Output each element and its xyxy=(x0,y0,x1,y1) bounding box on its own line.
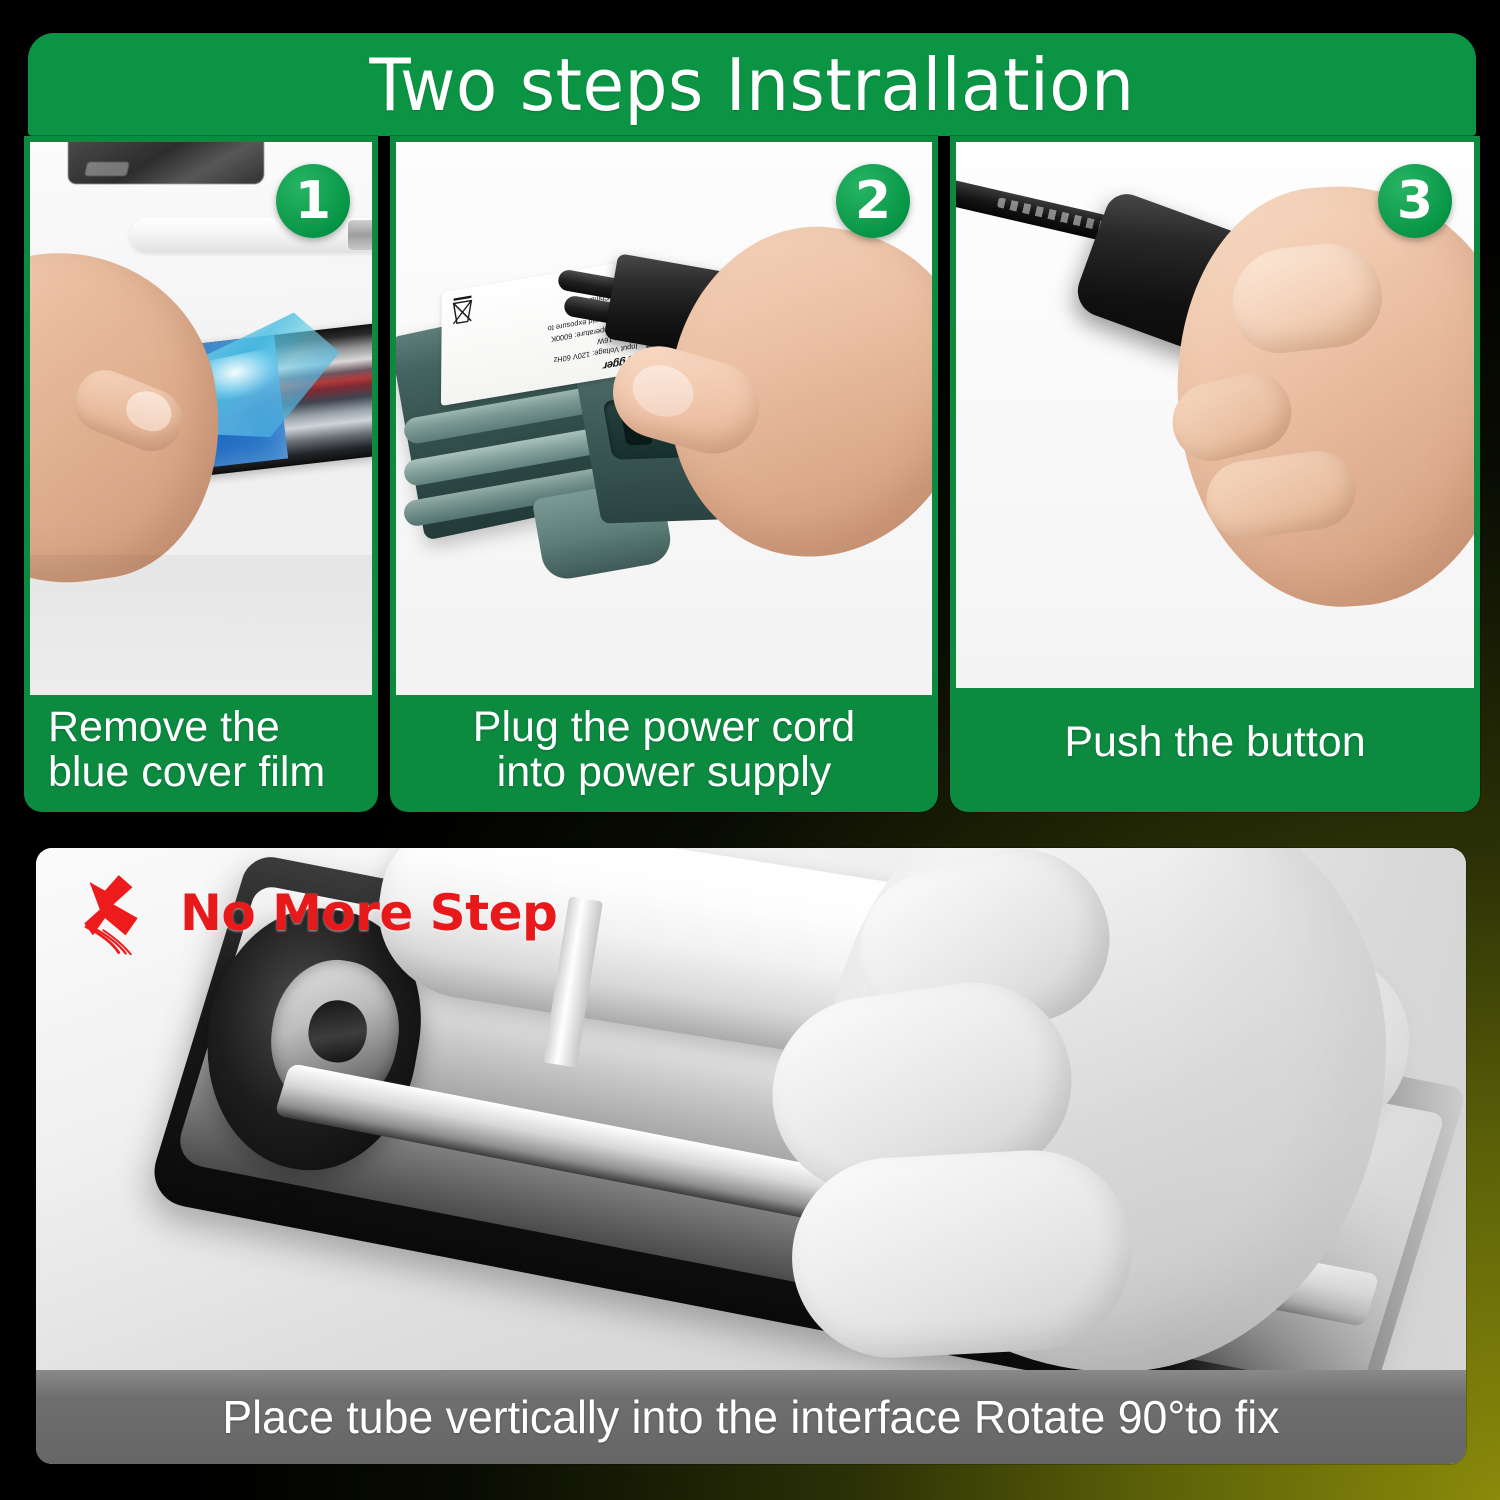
plastic-bag xyxy=(68,142,264,184)
step-number-1: 1 xyxy=(295,175,331,227)
step-3-caption-line-1: Push the button xyxy=(1064,720,1365,766)
tube-end-cap xyxy=(348,220,372,250)
step-2-caption-line-2: into power supply xyxy=(398,750,930,796)
step-2-caption-line-1: Plug the power cord xyxy=(398,705,930,751)
photo-shadow xyxy=(30,555,372,695)
step-2-caption: Plug the power cord into power supply xyxy=(390,695,938,812)
step-1-caption: Remove the blue cover film xyxy=(24,695,378,812)
step-badge-3: 3 xyxy=(1378,164,1452,238)
step-1-caption-line-1: Remove the xyxy=(48,705,370,751)
bottom-caption-text: Place tube vertically into the interface… xyxy=(222,1394,1279,1440)
step-card-1: 1 Remove the blue cover film xyxy=(24,136,378,812)
bottom-panel: No More Step Place tube vertically into … xyxy=(36,848,1466,1464)
finger xyxy=(787,1145,1137,1363)
steps-row: 1 Remove the blue cover film xyxy=(24,136,1480,812)
header-banner: Two steps Instrallation xyxy=(28,33,1476,136)
no-more-step-warning: No More Step xyxy=(74,870,557,956)
bottom-caption-bar: Place tube vertically into the interface… xyxy=(36,1370,1466,1464)
no-more-step-label: No More Step xyxy=(180,888,557,938)
step-3-photo: 3 xyxy=(956,142,1474,688)
weee-bin-icon xyxy=(449,294,475,329)
step-number-3: 3 xyxy=(1397,175,1433,227)
step-card-3: 3 Push the button xyxy=(950,136,1480,812)
step-number-2: 2 xyxy=(855,175,891,227)
step-1-photo: 1 xyxy=(30,142,372,695)
page-title: Two steps Instrallation xyxy=(369,49,1134,121)
step-2-photo: hygger Input Voltage: 120V 60Hz Power: 1… xyxy=(396,142,932,695)
step-card-2: hygger Input Voltage: 120V 60Hz Power: 1… xyxy=(390,136,938,812)
infographic-page: Two steps Instrallation 1 xyxy=(0,0,1500,1500)
step-badge-2: 2 xyxy=(836,164,910,238)
step-1-caption-line-2: blue cover film xyxy=(48,750,370,796)
photo-fade xyxy=(1166,848,1466,1370)
step-badge-1: 1 xyxy=(276,164,350,238)
red-x-icon xyxy=(74,870,160,956)
step-3-caption: Push the button xyxy=(950,688,1480,812)
